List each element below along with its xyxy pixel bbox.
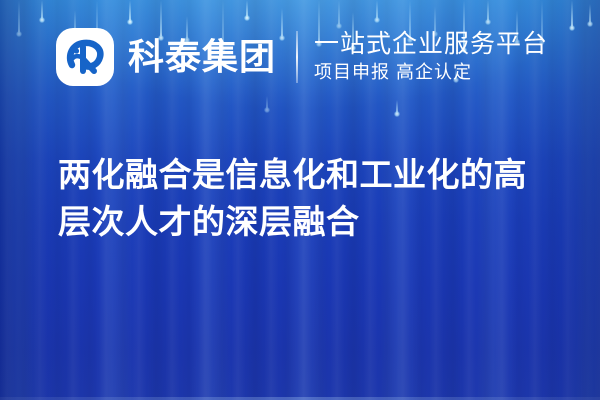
light-trail-icon [18,0,20,34]
light-trail-icon [129,0,131,22]
headline-line-1: 两化融合是信息化和工业化的高 [58,152,558,199]
banner-header: 科泰集团 一站式企业服务平台 项目申报 高企认定 [56,28,548,86]
light-trail-icon [376,0,378,20]
headline-line-2: 层次人才的深层融合 [58,199,558,246]
light-trail-icon [338,0,340,26]
light-trail-icon [571,0,573,28]
promo-banner: 科泰集团 一站式企业服务平台 项目申报 高企认定 两化融合是信息化和工业化的高 … [0,0,600,400]
tagline-secondary: 项目申报 高企认定 [314,61,548,84]
ketai-monogram-logo-icon [56,28,114,86]
tagline-block: 一站式企业服务平台 项目申报 高企认定 [314,30,548,84]
light-trail-icon [396,100,398,114]
headline: 两化融合是信息化和工业化的高 层次人才的深层融合 [58,152,558,246]
brand-name: 科泰集团 [128,39,276,75]
light-trail-icon [487,0,489,22]
light-trail-icon [589,4,591,24]
light-trail-icon [266,96,268,110]
light-trail-icon [41,0,43,20]
tagline-primary: 一站式企业服务平台 [314,30,548,58]
light-trail-icon [246,0,248,18]
header-divider [296,31,298,83]
